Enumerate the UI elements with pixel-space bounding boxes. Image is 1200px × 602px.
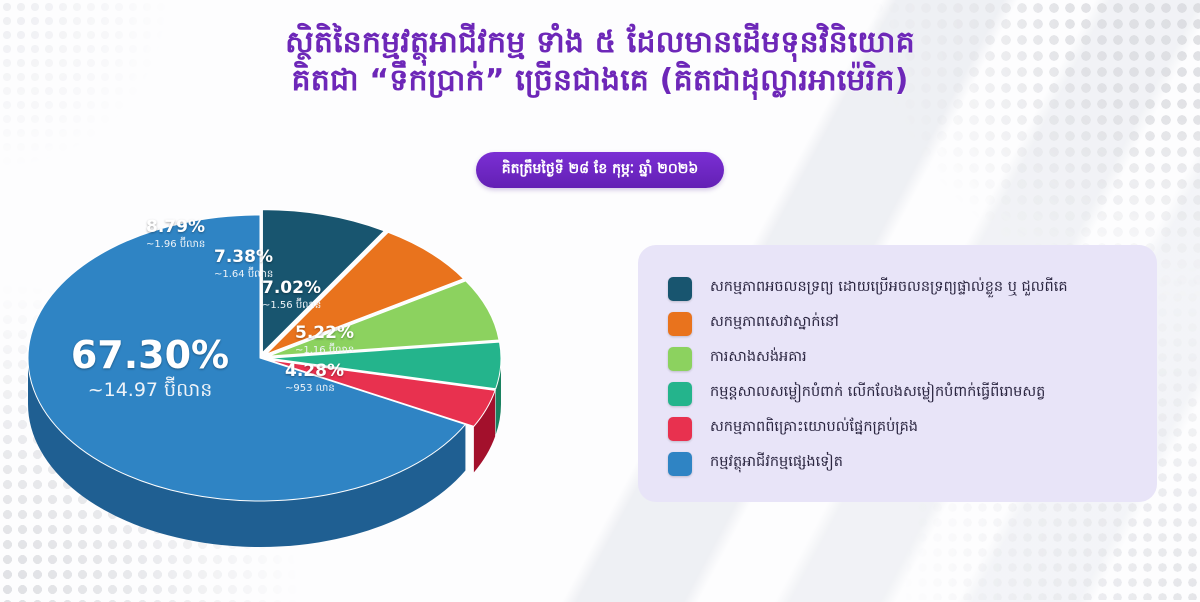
pie-label: 7.38%~1.64 ប៊ីលាន: [214, 247, 273, 280]
legend-item-label: សកម្មភាពពិគ្រោះយោបល់ផ្នែកគ្រប់គ្រង: [710, 418, 918, 439]
legend-item: សកម្មភាពពិគ្រោះយោបល់ផ្នែកគ្រប់គ្រង: [668, 411, 1143, 446]
legend-panel: សកម្មភាពអចលនទ្រព្យ ដោយប្រើអចលនទ្រព្យផ្ទា…: [638, 245, 1157, 502]
legend-item: កម្មវត្ថុអាជីវកម្មផ្សេងទៀត: [668, 446, 1143, 481]
pie-label: 67.30%~14.97 ប៊ីលាន: [71, 333, 229, 401]
pie-chart-svg: 8.79%~1.96 ប៊ីលាន7.38%~1.64 ប៊ីលាន7.02%~…: [10, 190, 630, 550]
pie-label-amount: ~1.96 ប៊ីលាន: [146, 236, 205, 250]
legend-color-swatch: [668, 417, 692, 441]
legend-item-label: កម្មន្តសាលសម្លៀកបំពាក់ លើកលែងសម្លៀកបំពាក…: [710, 383, 1045, 404]
pie-label-amount: ~1.16 ប៊ីលាន: [295, 342, 354, 356]
pie-label-percent: 7.38%: [214, 247, 273, 267]
page-title-line-2: គិតជា “ទឹកប្រាក់” ច្រើនជាងគេ (គិតជាដុល្ល…: [0, 62, 1200, 100]
legend-list: សកម្មភាពអចលនទ្រព្យ ដោយប្រើអចលនទ្រព្យផ្ទា…: [668, 271, 1143, 481]
pie-chart: 8.79%~1.96 ប៊ីលាន7.38%~1.64 ប៊ីលាន7.02%~…: [10, 190, 630, 550]
pie-label: 7.02%~1.56 ប៊ីលាន: [262, 278, 321, 311]
legend-item: សកម្មភាពអចលនទ្រព្យ ដោយប្រើអចលនទ្រព្យផ្ទា…: [668, 271, 1143, 306]
pie-label: 5.22%~1.16 ប៊ីលាន: [295, 323, 354, 356]
legend-color-swatch: [668, 382, 692, 406]
legend-item: កម្មន្តសាលសម្លៀកបំពាក់ លើកលែងសម្លៀកបំពាក…: [668, 376, 1143, 411]
page-title-line-1: ស្ថិតិនៃកម្មវត្ថុអាជីវកម្ម ទាំង ៥ ដែលមាន…: [0, 24, 1200, 62]
legend-item-label: សកម្មភាពសេវាស្នាក់នៅ: [710, 313, 839, 334]
legend-color-swatch: [668, 277, 692, 301]
pie-label-percent: 67.30%: [71, 333, 229, 377]
legend-color-swatch: [668, 312, 692, 336]
pie-label-amount: ~1.56 ប៊ីលាន: [262, 297, 321, 311]
pie-label-amount: ~14.97 ប៊ីលាន: [88, 376, 213, 401]
legend-item-label: ការសាងសង់អគារ: [710, 348, 807, 369]
subtitle-badge-wrapper: គិតត្រឹមថ្ងៃទី ២៨ ខែ កុម្ភៈ ឆ្នាំ ២០២៦: [0, 152, 1200, 188]
pie-label: 8.79%~1.96 ប៊ីលាន: [146, 217, 205, 250]
infographic-canvas: ស្ថិតិនៃកម្មវត្ថុអាជីវកម្ម ទាំង ៥ ដែលមាន…: [0, 0, 1200, 602]
legend-color-swatch: [668, 347, 692, 371]
pie-label-percent: 5.22%: [295, 323, 354, 343]
pie-label-percent: 8.79%: [146, 217, 205, 237]
pie-label-percent: 4.28%: [285, 361, 344, 381]
pie-label-amount: ~953 លាន: [285, 383, 335, 394]
legend-item-label: កម្មវត្ថុអាជីវកម្មផ្សេងទៀត: [710, 453, 843, 474]
legend-item: សកម្មភាពសេវាស្នាក់នៅ: [668, 306, 1143, 341]
legend-item-label: សកម្មភាពអចលនទ្រព្យ ដោយប្រើអចលនទ្រព្យផ្ទា…: [710, 278, 1068, 299]
as-of-date-badge: គិតត្រឹមថ្ងៃទី ២៨ ខែ កុម្ភៈ ឆ្នាំ ២០២៦: [476, 152, 725, 188]
legend-item: ការសាងសង់អគារ: [668, 341, 1143, 376]
legend-color-swatch: [668, 452, 692, 476]
pie-label-percent: 7.02%: [262, 278, 321, 298]
page-title: ស្ថិតិនៃកម្មវត្ថុអាជីវកម្ម ទាំង ៥ ដែលមាន…: [0, 24, 1200, 100]
